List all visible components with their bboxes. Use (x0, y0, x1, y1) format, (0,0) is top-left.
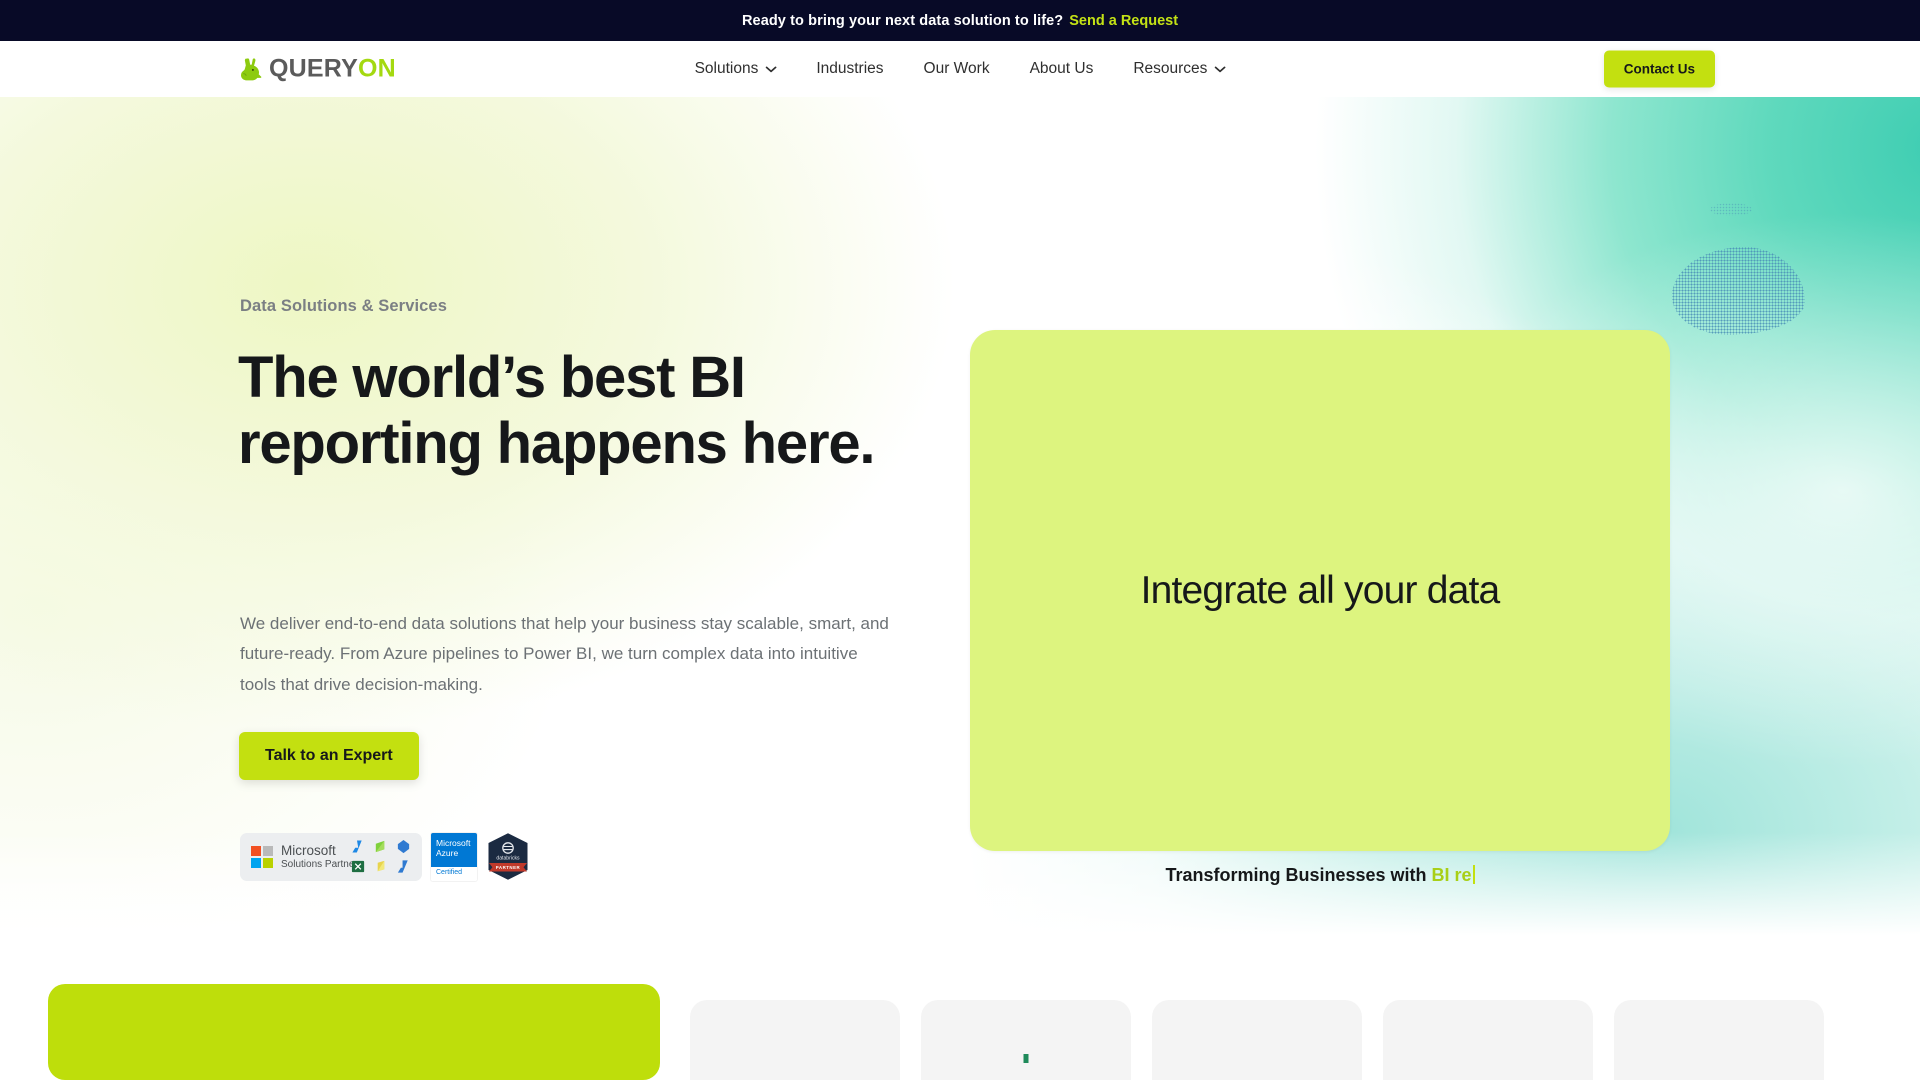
power-bi-icon (373, 839, 388, 854)
microsoft-azure-certified-badge: Microsoft Azure Certified (431, 833, 477, 881)
feature-card-4[interactable] (1383, 1000, 1593, 1080)
azure-icon (351, 839, 366, 854)
chevron-down-icon (765, 66, 776, 73)
talk-to-an-expert-button[interactable]: Talk to an Expert (239, 732, 419, 780)
badge-line-3: Certified (431, 867, 477, 881)
nav-item-label: Industries (816, 60, 883, 78)
feature-card-2[interactable] (921, 1000, 1131, 1080)
databricks-partner-badge: databricks PARTNER (486, 832, 530, 881)
hero-card-text: Integrate all your data (1141, 569, 1500, 613)
badge-line-2: Azure (436, 848, 473, 858)
hero-visual-card: Integrate all your data (970, 330, 1670, 851)
power-apps-icon (396, 839, 411, 854)
nav-item-label: Resources (1133, 60, 1207, 78)
nav-item-resources[interactable]: Resources (1113, 41, 1245, 97)
logo-wordmark: QUERYON (269, 57, 396, 82)
typewriter-typed-text: BI re (1432, 865, 1472, 885)
nav-item-industries[interactable]: Industries (796, 41, 903, 97)
nav-item-label: About Us (1030, 60, 1094, 78)
nav-item-label: Our Work (924, 60, 990, 78)
feature-card-5[interactable] (1614, 1000, 1824, 1080)
typewriter-static-text: Transforming Businesses with (1165, 865, 1426, 885)
send-a-request-link[interactable]: Send a Request (1069, 13, 1178, 29)
logo-word-query: QUERY (269, 55, 358, 83)
microsoft-logo-icon (251, 846, 273, 868)
feature-card-1[interactable] (690, 1000, 900, 1080)
typewriter-tagline: Transforming Businesses withBI re (970, 865, 1670, 886)
badge-line-1: Microsoft (436, 838, 473, 848)
card-marker-icon (1024, 1054, 1029, 1063)
feature-card-3[interactable] (1152, 1000, 1362, 1080)
typewriter-caret-icon (1473, 865, 1475, 884)
rabbit-icon (240, 57, 262, 81)
announcement-text: Ready to bring your next data solution t… (742, 13, 1063, 29)
microsoft-product-icons (348, 837, 414, 877)
hero-eyebrow: Data Solutions & Services (240, 297, 447, 316)
nav-item-solutions[interactable]: Solutions (675, 41, 797, 97)
main-navigation: Solutions Industries Our Work About Us R… (675, 41, 1246, 97)
svg-text:databricks: databricks (496, 856, 520, 862)
site-header: QUERYON Solutions Industries Our Work Ab… (0, 41, 1920, 97)
nav-item-label: Solutions (695, 60, 759, 78)
page-title: The world’s best BI reporting happens he… (238, 345, 878, 478)
azure-blue-icon (396, 859, 411, 874)
nav-item-about-us[interactable]: About Us (1010, 41, 1114, 97)
features-section (0, 952, 1920, 1080)
chevron-down-icon (1214, 66, 1225, 73)
azure-data-icon (373, 859, 388, 874)
badge-line-2: Solutions Partner (281, 859, 358, 871)
feature-card-highlight[interactable] (48, 984, 660, 1080)
feature-cards-row (48, 984, 1824, 1080)
hero-section: Data Solutions & Services The world’s be… (0, 97, 1920, 952)
nav-item-our-work[interactable]: Our Work (904, 41, 1010, 97)
svg-text:PARTNER: PARTNER (496, 865, 521, 870)
microsoft-solutions-partner-badge: Microsoft Solutions Partner (240, 833, 422, 881)
excel-icon (351, 859, 366, 874)
contact-us-button[interactable]: Contact Us (1604, 51, 1715, 88)
site-logo[interactable]: QUERYON (240, 57, 396, 82)
hero-description: We deliver end-to-end data solutions tha… (240, 609, 895, 700)
logo-word-on: ON (358, 55, 396, 83)
badge-line-1: Microsoft (281, 843, 358, 859)
announcement-bar: Ready to bring your next data solution t… (0, 0, 1920, 41)
partner-badges: Microsoft Solutions Partner Microsoft Az… (240, 832, 530, 881)
